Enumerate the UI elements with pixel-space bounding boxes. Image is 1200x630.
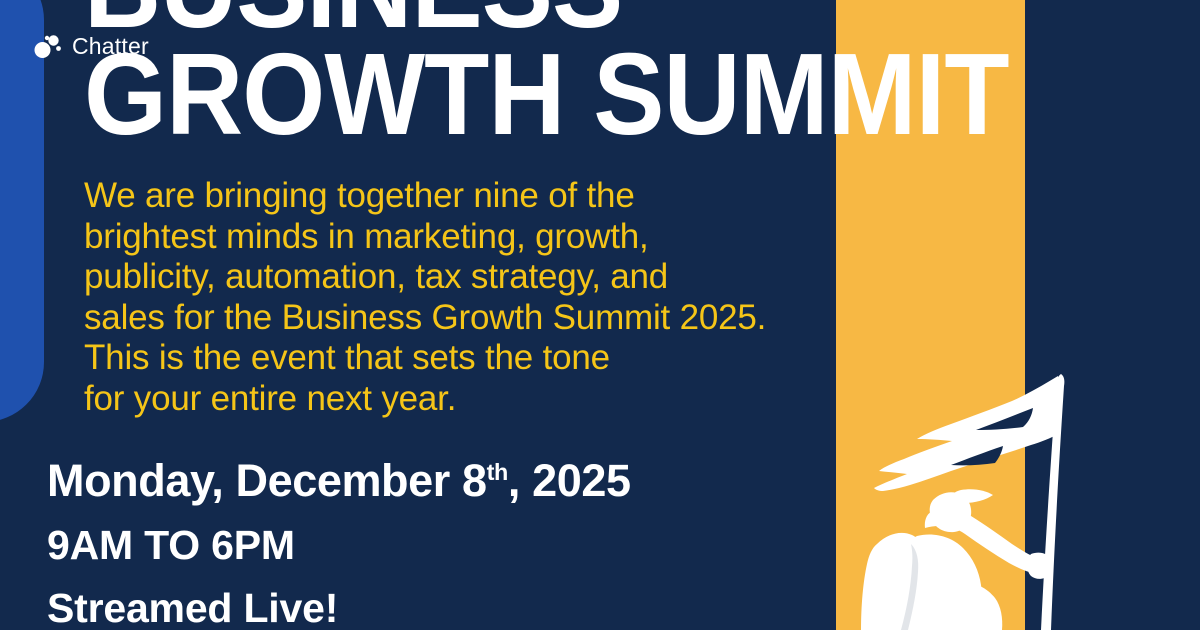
event-date-prefix: Monday, December 8 [47, 455, 487, 506]
event-time: 9AM TO 6PM [47, 522, 295, 569]
description-line-5: This is the event that sets the tone [84, 338, 844, 379]
description-line-4: sales for the Business Growth Summit 202… [84, 298, 844, 339]
description-line-3: publicity, automation, tax strategy, and [84, 257, 844, 298]
headline-line-2: GROWTH SUMMIT [84, 41, 1009, 148]
event-stream-note: Streamed Live! [47, 585, 338, 630]
description-line-6: for your entire next year. [84, 379, 844, 420]
event-date-ordinal: th [487, 459, 508, 485]
promo-poster: Chatter BUSINESS GROWTH SUMMIT We are br… [0, 0, 1200, 630]
brand-name: Chatter [72, 35, 149, 58]
event-date-suffix: , 2025 [508, 455, 631, 506]
blue-accent-panel [0, 0, 44, 422]
event-date: Monday, December 8th, 2025 [47, 455, 631, 507]
person-with-flag-silhouette-icon [855, 368, 1085, 630]
circle-cluster-icon [33, 33, 63, 59]
page-title: BUSINESS GROWTH SUMMIT [84, 0, 1009, 147]
description-line-2: brightest minds in marketing, growth, [84, 217, 844, 258]
event-description: We are bringing together nine of the bri… [84, 176, 844, 419]
brand-logo: Chatter [33, 33, 149, 59]
description-line-1: We are bringing together nine of the [84, 176, 844, 217]
